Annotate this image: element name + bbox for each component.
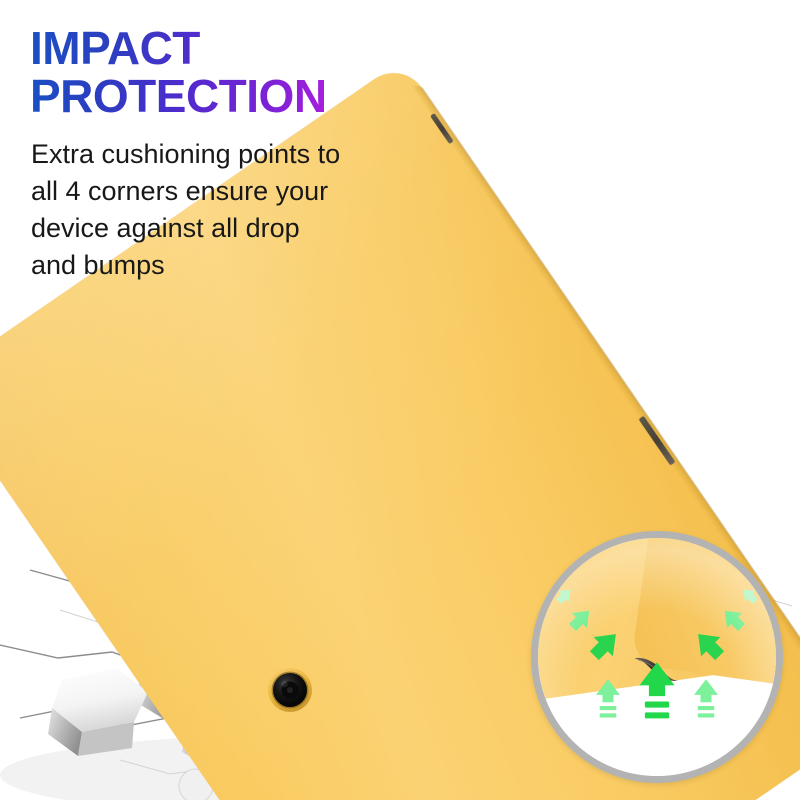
volume-button-cutout: [639, 416, 676, 466]
impact-arrows: [538, 538, 776, 776]
rear-camera-lens: [267, 667, 313, 713]
product-feature-image: IMPACT PROTECTION Extra cushioning point…: [0, 0, 800, 800]
corner-magnifier: [531, 531, 783, 783]
power-button-cutout: [430, 113, 453, 144]
magnifier-contents: [538, 538, 776, 776]
headline-line-1: IMPACT: [30, 24, 390, 72]
headline-line-2: PROTECTION: [30, 72, 390, 120]
subheading-text: Extra cushioning points to all 4 corners…: [31, 136, 351, 284]
headline: IMPACT PROTECTION: [30, 24, 390, 120]
